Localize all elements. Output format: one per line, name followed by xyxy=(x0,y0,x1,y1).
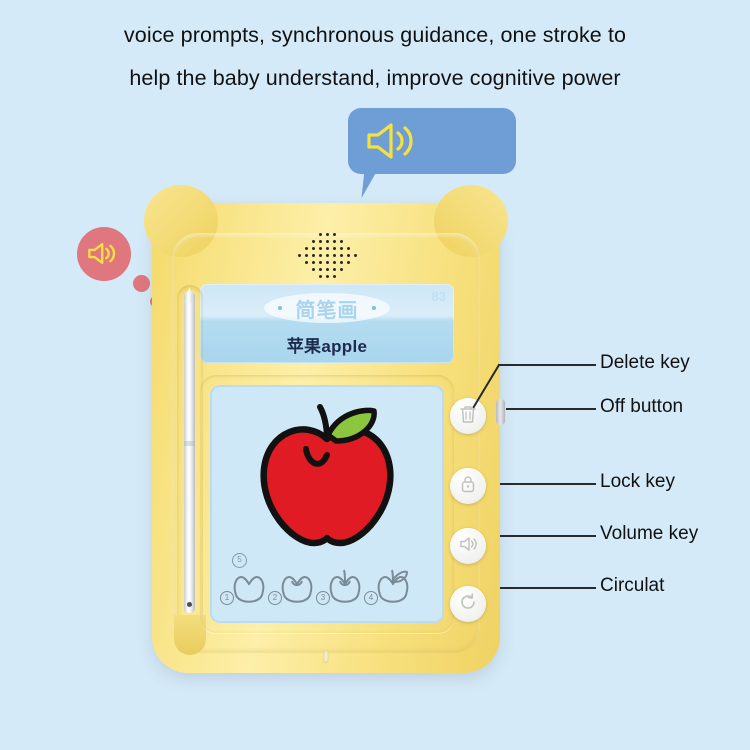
drawing-step-sequence: 1234 xyxy=(216,565,438,609)
callout-label-off-button: Off button xyxy=(600,396,683,418)
callout-label-lock-key: Lock key xyxy=(600,471,675,493)
leader-line-circulat xyxy=(500,587,596,589)
volume-button[interactable] xyxy=(450,528,486,564)
leader-line-off-button xyxy=(506,408,596,410)
delete-button[interactable] xyxy=(450,398,486,434)
headline-line-2: help the baby understand, improve cognit… xyxy=(0,57,750,100)
apple-illustration xyxy=(244,401,410,556)
drawing-tablet-device: 简笔画 83 苹果apple 5 1234 xyxy=(152,203,500,673)
leader-line-volume-key xyxy=(500,535,596,537)
power-slider[interactable] xyxy=(496,399,505,425)
pink-thought-bubble xyxy=(77,227,131,281)
drawing-screen[interactable]: 5 1234 xyxy=(210,385,444,623)
leader-line-lock-key xyxy=(500,483,596,485)
card-title-badge: 简笔画 xyxy=(264,293,390,323)
stylus-band xyxy=(184,441,195,446)
speaker-sound-icon xyxy=(365,121,423,166)
trash-icon xyxy=(459,404,477,429)
circulate-button[interactable] xyxy=(450,586,486,622)
badge-dot-right xyxy=(372,306,376,310)
callout-label-circulat: Circulat xyxy=(600,575,664,597)
card-number: 83 xyxy=(432,289,446,304)
thought-bubble-dot-large xyxy=(133,275,150,292)
refresh-icon xyxy=(458,592,478,617)
card-title-text: 简笔画 xyxy=(296,294,359,323)
headline: voice prompts, synchronous guidance, one… xyxy=(0,14,750,100)
callout-label-volume-key: Volume key xyxy=(600,523,698,545)
speaker-grille-icon xyxy=(291,229,361,277)
apple-step-4 xyxy=(374,567,413,613)
stylus-tip xyxy=(187,602,192,607)
leader-line-delete-key xyxy=(498,364,596,366)
stylus-pen[interactable] xyxy=(184,291,195,613)
lock-button[interactable] xyxy=(450,468,486,504)
apple-step-2 xyxy=(278,567,317,613)
drawing-screen-frame: 5 1234 xyxy=(200,375,454,633)
bottom-slot xyxy=(324,650,329,663)
card-word-text: 苹果apple xyxy=(200,332,454,357)
speaker-sound-icon xyxy=(87,240,121,272)
lock-icon xyxy=(459,474,477,499)
headline-line-1: voice prompts, synchronous guidance, one… xyxy=(0,14,750,57)
callout-label-delete-key: Delete key xyxy=(600,352,690,374)
blue-speech-bubble xyxy=(348,108,516,174)
word-card-display: 简笔画 83 苹果apple xyxy=(200,284,454,363)
apple-step-1 xyxy=(230,567,269,613)
badge-dot-left xyxy=(278,306,282,310)
speaker-icon xyxy=(458,534,478,559)
apple-step-3 xyxy=(326,567,365,613)
